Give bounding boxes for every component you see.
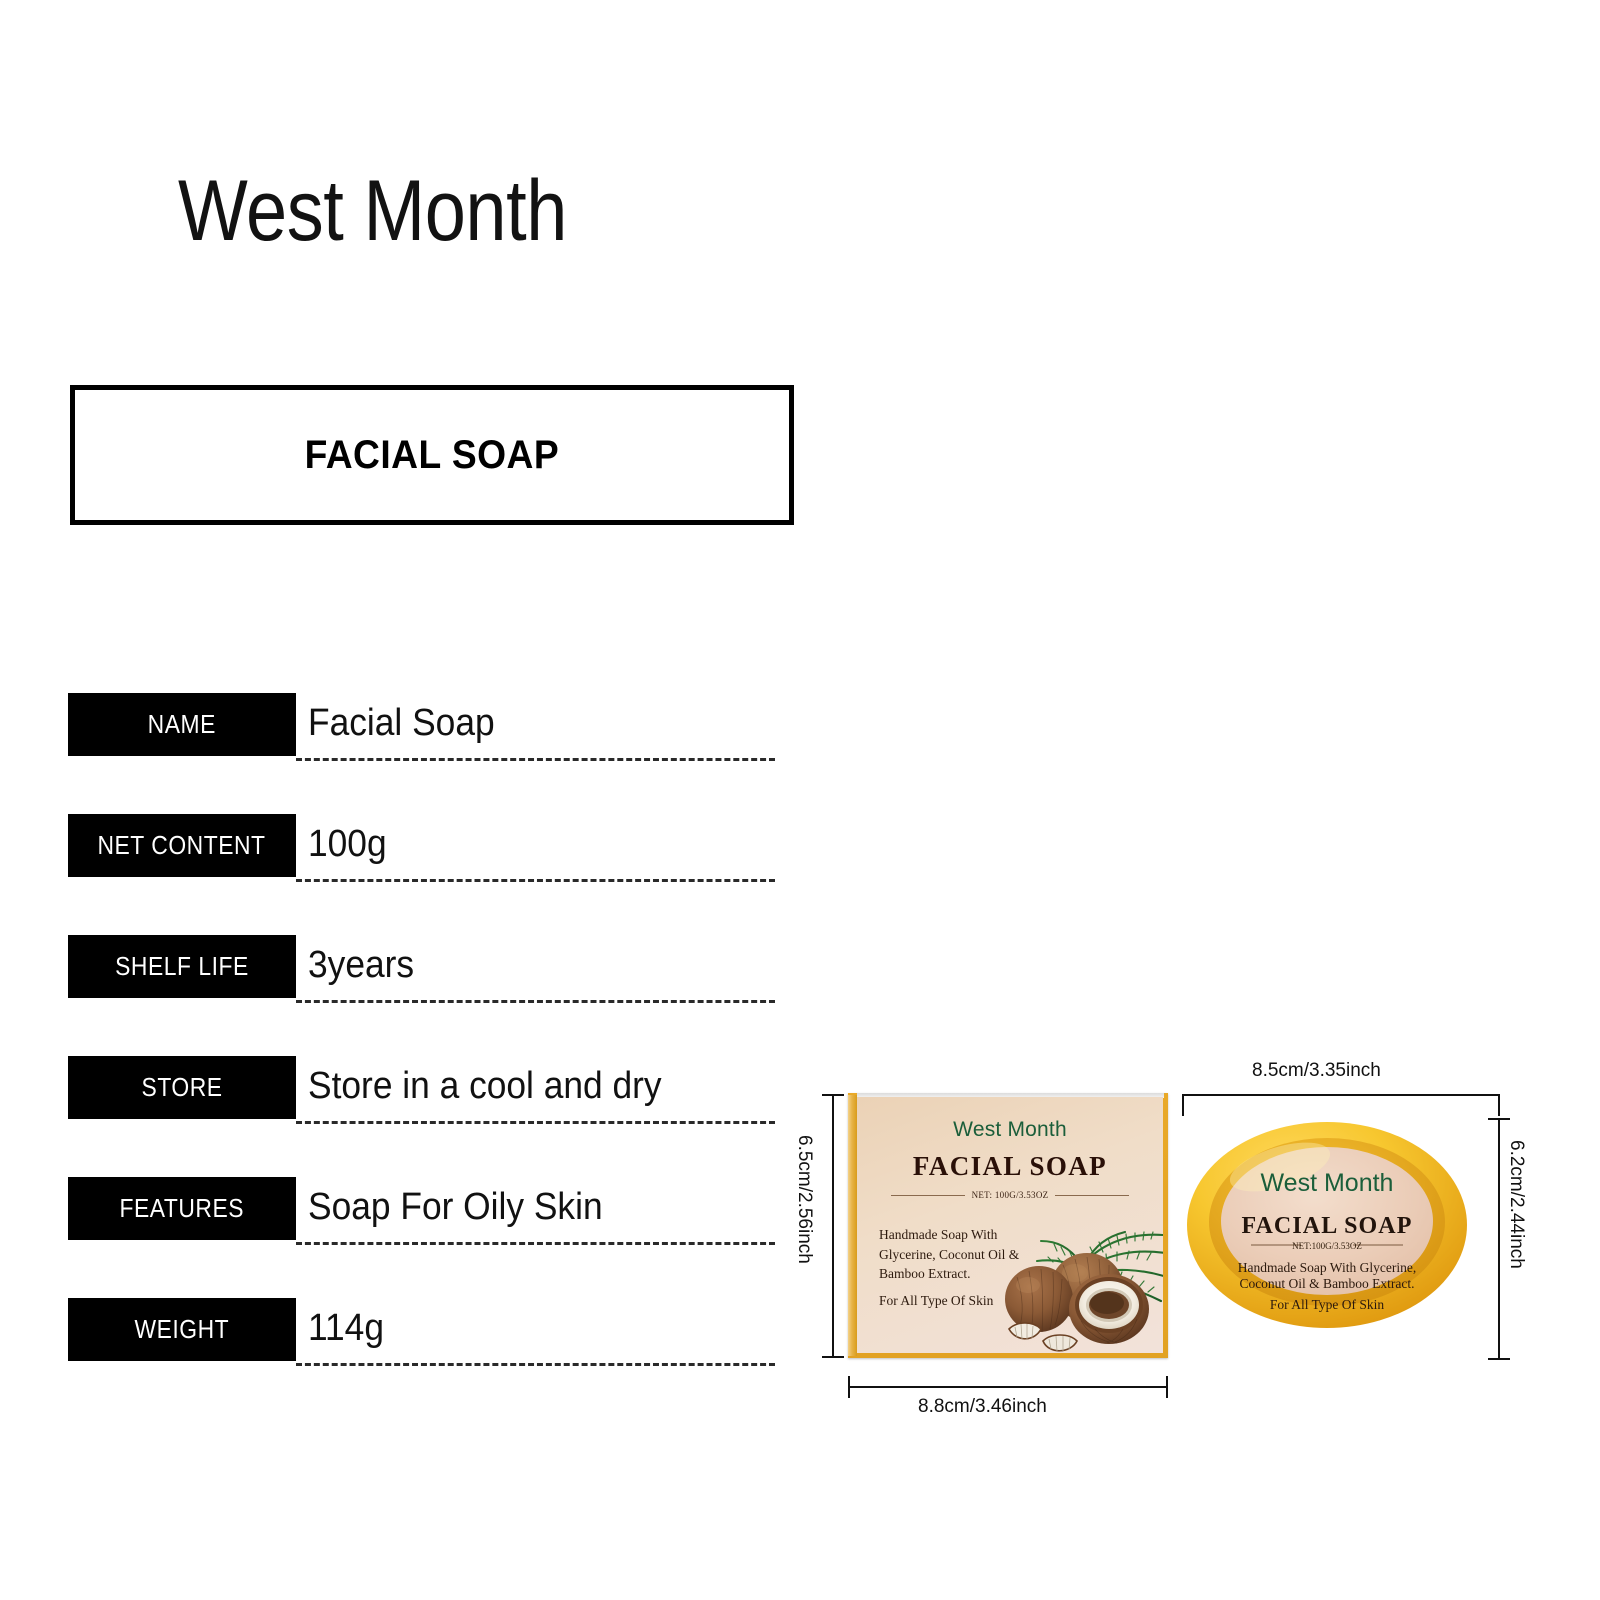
spec-value-weight: 114g — [308, 1296, 384, 1361]
dimension-tick-left — [1182, 1094, 1184, 1116]
spec-value-features: Soap For Oily Skin — [308, 1175, 603, 1240]
soap-net-text: NET:100G/3.53OZ — [1292, 1241, 1362, 1251]
product-title-box: FACIAL SOAP — [70, 385, 794, 525]
dimension-tick-top — [822, 1094, 844, 1096]
product-carton-box: West Month FACIAL SOAP NET: 100G/3.53OZ … — [848, 1093, 1168, 1358]
dimension-label-carton-height: 6.5cm/2.56inch — [793, 1135, 815, 1264]
brand-title: West Month — [178, 168, 567, 254]
specification-table: NAME Facial Soap NET CONTENT 100g SHELF … — [68, 693, 778, 1419]
spec-label-shelf-life: SHELF LIFE — [68, 935, 296, 998]
spec-dashed-underline — [296, 1242, 775, 1245]
soap-brand-text: West Month — [1261, 1169, 1394, 1197]
carton-net-row: NET: 100G/3.53OZ — [857, 1190, 1163, 1200]
spec-dashed-underline — [296, 758, 775, 761]
dimension-label-carton-width: 8.8cm/3.46inch — [918, 1396, 1047, 1418]
carton-brand-text: West Month — [857, 1118, 1163, 1142]
spec-label-net-content: NET CONTENT — [68, 814, 296, 877]
dimension-tick-bottom — [1488, 1358, 1510, 1360]
dimension-tick-right — [1166, 1376, 1168, 1398]
carton-skin-text: For All Type Of Skin — [879, 1293, 993, 1309]
dimension-tick-top — [1488, 1118, 1510, 1120]
dimension-label-soap-height: 6.2cm/2.44inch — [1505, 1140, 1527, 1269]
carton-net-text: NET: 100G/3.53OZ — [972, 1190, 1049, 1200]
spec-value-net-content: 100g — [308, 812, 387, 877]
table-row: FEATURES Soap For Oily Skin — [68, 1177, 778, 1298]
dimension-line-soap-width — [1182, 1094, 1500, 1096]
carton-title-text: FACIAL SOAP — [857, 1151, 1163, 1182]
dimension-tick-bottom — [822, 1356, 844, 1358]
spec-label-weight: WEIGHT — [68, 1298, 296, 1361]
coconut-illustration-icon — [991, 1217, 1163, 1353]
dimension-line-carton-height — [832, 1094, 834, 1358]
spec-label-features: FEATURES — [68, 1177, 296, 1240]
table-row: NET CONTENT 100g — [68, 814, 778, 935]
product-image-zone: West Month FACIAL SOAP NET: 100G/3.53OZ … — [790, 1020, 1600, 1450]
spec-value-shelf-life: 3years — [308, 933, 414, 998]
spec-dashed-underline — [296, 879, 775, 882]
soap-description-line1: Handmade Soap With Glycerine, — [1238, 1260, 1416, 1275]
dimension-tick-right — [1498, 1094, 1500, 1116]
carton-spine — [848, 1095, 857, 1356]
spec-dashed-underline — [296, 1363, 775, 1366]
dimension-label-soap-width: 8.5cm/3.35inch — [1252, 1060, 1381, 1082]
carton-front-face: West Month FACIAL SOAP NET: 100G/3.53OZ … — [857, 1097, 1163, 1353]
table-row: STORE Store in a cool and dry — [68, 1056, 778, 1177]
spec-value-name: Facial Soap — [308, 691, 495, 756]
spec-value-store: Store in a cool and dry — [308, 1054, 662, 1119]
table-row: SHELF LIFE 3years — [68, 935, 778, 1056]
carton-rule-left — [891, 1195, 965, 1196]
table-row: NAME Facial Soap — [68, 693, 778, 814]
spec-label-name: NAME — [68, 693, 296, 756]
spec-dashed-underline — [296, 1000, 775, 1003]
carton-rule-right — [1055, 1195, 1129, 1196]
soap-title-text: FACIAL SOAP — [1241, 1213, 1412, 1239]
oval-soap-bar: West Month FACIAL SOAP NET:100G/3.53OZ H… — [1185, 1115, 1470, 1330]
dimension-line-soap-height — [1498, 1118, 1500, 1360]
dimension-tick-left — [848, 1376, 850, 1398]
spec-label-store: STORE — [68, 1056, 296, 1119]
product-title-text: FACIAL SOAP — [305, 433, 560, 478]
dimension-line-carton-width — [848, 1386, 1168, 1388]
spec-dashed-underline — [296, 1121, 775, 1124]
soap-skin-text: For All Type Of Skin — [1270, 1297, 1385, 1312]
table-row: WEIGHT 114g — [68, 1298, 778, 1419]
soap-description-line2: Coconut Oil & Bamboo Extract. — [1239, 1276, 1414, 1291]
